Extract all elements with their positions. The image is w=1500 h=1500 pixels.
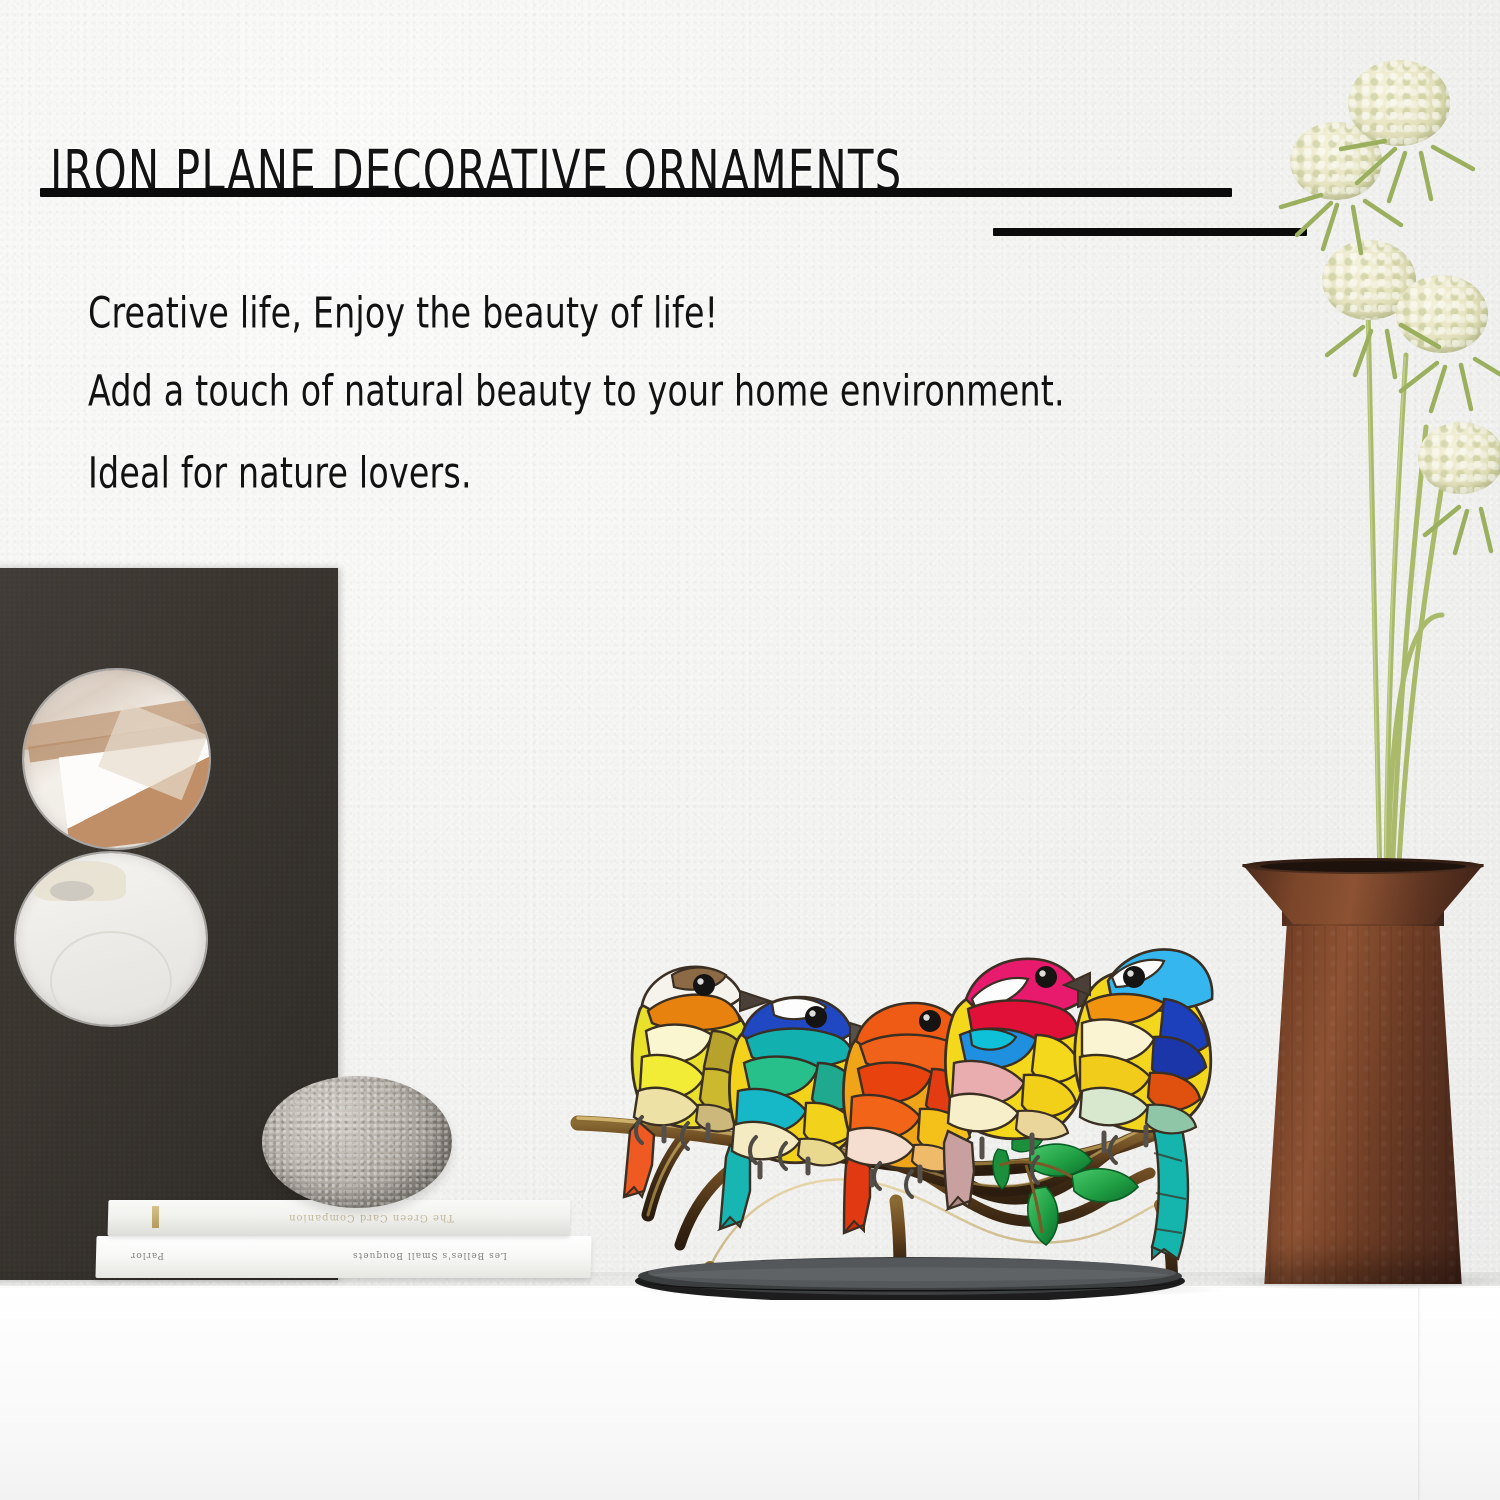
vase-rim-opening [1260,861,1466,872]
decorative-pebble [262,1076,452,1208]
tagline-line-3: Ideal for nature lovers. [88,448,472,498]
circular-mirror-top [24,670,209,848]
book-spine-subtitle: Les Belles's Small Bouquets [352,1250,507,1260]
bird-ornament-svg [560,915,1230,1300]
ornament-base [635,1257,1185,1300]
book-spine-publisher: Parlor [130,1250,164,1260]
bird-ornament [560,915,1230,1300]
flower-bracts-svg [1225,95,1500,615]
vase-body [1258,914,1468,1284]
book-bottom [95,1236,591,1278]
tagline-line-2: Add a touch of natural beauty to your ho… [88,366,1065,416]
product-lifestyle-image: IRON PLANE DECORATIVE ORNAMENTS Creative… [0,0,1500,1500]
shelf-right-edge [1418,1288,1421,1500]
shelf-surface [0,1288,1500,1500]
book-bookmark [152,1206,159,1228]
title-underline [40,188,1232,197]
wooden-vase [1236,852,1490,1284]
book-spine-title: The Green Card Companion [288,1212,454,1223]
circular-mirror-bottom [16,853,206,1025]
tagline-line-1: Creative life, Enjoy the beauty of life! [88,288,718,338]
